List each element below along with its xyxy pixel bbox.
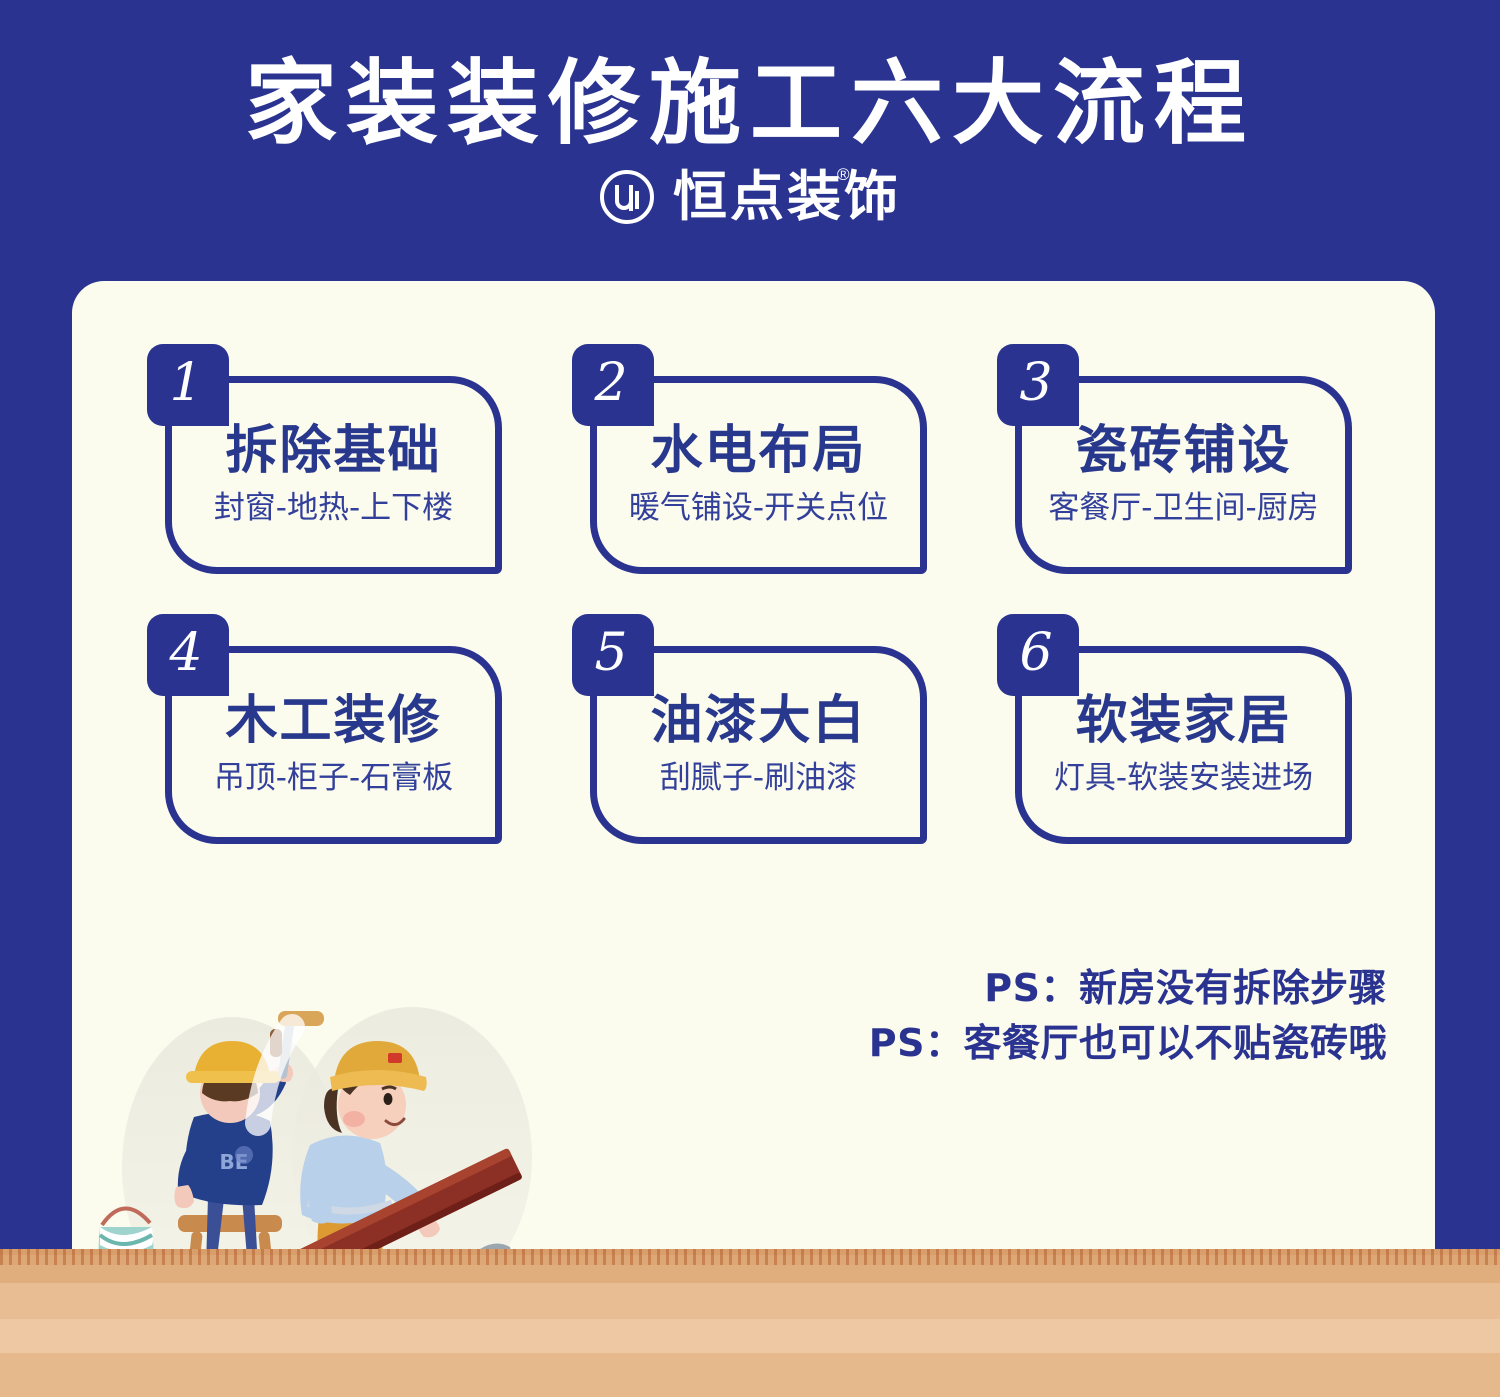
step-subtitle: 灯具-软装安装进场	[1021, 761, 1346, 795]
page-title: 家装装修施工六大流程	[0, 0, 1500, 153]
step-subtitle: 刮腻子-刷油漆	[596, 761, 921, 795]
step-number: 3	[1019, 357, 1056, 413]
step-text-block: 瓷砖铺设 客餐厅-卫生间-厨房	[1015, 424, 1352, 525]
step-subtitle: 封窗-地热-上下楼	[171, 491, 496, 525]
step-text-block: 拆除基础 封窗-地热-上下楼	[165, 424, 502, 525]
step-card-3[interactable]: 3 瓷砖铺设 客餐厅-卫生间-厨房	[997, 344, 1352, 574]
ps-note-2: PS：客餐厅也可以不贴瓷砖哦	[869, 1016, 1387, 1071]
step-number: 4	[169, 627, 206, 683]
step-number: 5	[594, 627, 631, 683]
step-title: 木工装修	[171, 694, 496, 749]
brand-name: 恒点装饰	[673, 165, 901, 228]
ps-note-1: PS：新房没有拆除步骤	[869, 961, 1387, 1016]
ground-texture	[0, 1249, 1500, 1265]
step-card-1[interactable]: 1 拆除基础 封窗-地热-上下楼	[147, 344, 502, 574]
content-panel: 1 拆除基础 封窗-地热-上下楼 2 水电布局 暖气铺设-开关点位	[72, 281, 1435, 1397]
step-subtitle: 客餐厅-卫生间-厨房	[1021, 491, 1346, 525]
poster-root: 家装装修施工六大流程 恒点装饰 ® 1	[0, 0, 1500, 1397]
step-number-badge: 3	[997, 344, 1079, 426]
step-card-6[interactable]: 6 软装家居 灯具-软装安装进场	[997, 614, 1352, 844]
step-title: 油漆大白	[596, 694, 921, 749]
step-subtitle: 暖气铺设-开关点位	[596, 491, 921, 525]
step-number: 2	[594, 357, 631, 413]
step-title: 软装家居	[1021, 694, 1346, 749]
ground-strip	[0, 1249, 1500, 1397]
step-title: 水电布局	[596, 424, 921, 479]
step-number-badge: 2	[572, 344, 654, 426]
step-number-badge: 1	[147, 344, 229, 426]
step-number: 6	[1019, 627, 1056, 683]
step-title: 瓷砖铺设	[1021, 424, 1346, 479]
step-number-badge: 4	[147, 614, 229, 696]
brand-logo: 恒点装饰 ®	[0, 169, 1500, 225]
hengdian-circle-logo-icon	[599, 169, 655, 225]
step-card-2[interactable]: 2 水电布局 暖气铺设-开关点位	[572, 344, 927, 574]
steps-grid: 1 拆除基础 封窗-地热-上下楼 2 水电布局 暖气铺设-开关点位	[147, 344, 1372, 844]
step-text-block: 水电布局 暖气铺设-开关点位	[590, 424, 927, 525]
ps-notes: PS：新房没有拆除步骤 PS：客餐厅也可以不贴瓷砖哦	[869, 961, 1387, 1071]
step-number-badge: 6	[997, 614, 1079, 696]
step-text-block: 油漆大白 刮腻子-刷油漆	[590, 694, 927, 795]
step-number-badge: 5	[572, 614, 654, 696]
registered-trademark-icon: ®	[837, 166, 850, 183]
poster-header: 家装装修施工六大流程 恒点装饰 ®	[0, 0, 1500, 270]
step-card-4[interactable]: 4 木工装修 吊顶-柜子-石膏板	[147, 614, 502, 844]
brand-name-wrap: 恒点装饰 ®	[673, 170, 901, 224]
step-text-block: 软装家居 灯具-软装安装进场	[1015, 694, 1352, 795]
step-title: 拆除基础	[171, 424, 496, 479]
step-card-5[interactable]: 5 油漆大白 刮腻子-刷油漆	[572, 614, 927, 844]
step-number: 1	[169, 357, 206, 413]
step-text-block: 木工装修 吊顶-柜子-石膏板	[165, 694, 502, 795]
step-subtitle: 吊顶-柜子-石膏板	[171, 761, 496, 795]
